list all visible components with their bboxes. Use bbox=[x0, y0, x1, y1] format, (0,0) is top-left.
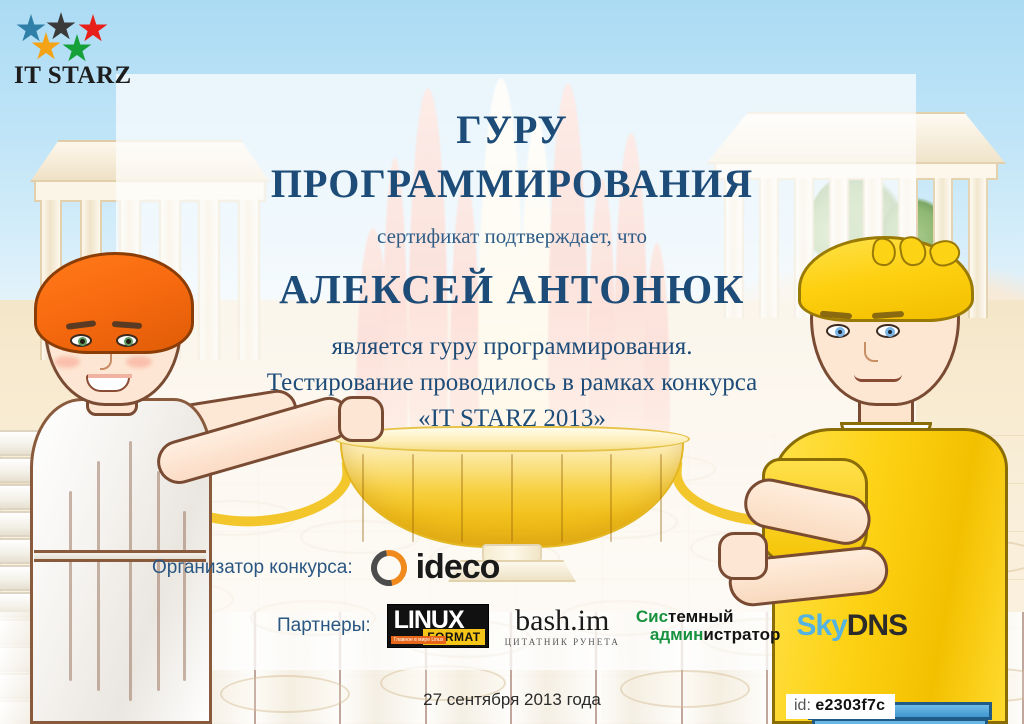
partners-label: Партнеры: bbox=[277, 615, 371, 637]
partner-logo-skydns: SkyDNS bbox=[796, 609, 907, 643]
sysadmin-row2-black: истратор bbox=[703, 625, 780, 644]
certificate-body-line2: Тестирование проводилось в рамках конкур… bbox=[0, 369, 1024, 397]
certificate-title-line2: ПРОГРАММИРОВАНИЯ bbox=[0, 160, 1024, 207]
certificate-id-value: e2303f7c bbox=[815, 697, 885, 714]
partner-logo-sistemnyy-administrator: Системный администратор bbox=[636, 608, 781, 644]
partner-logo-bash-im: bash.im ЦИТАТНИК РУНЕТА bbox=[505, 606, 620, 647]
certificate-content: ГУРУ ПРОГРАММИРОВАНИЯ сертификат подтвер… bbox=[0, 0, 1024, 724]
certificate-body-line3: «IT STARZ 2013» bbox=[0, 405, 1024, 433]
sysadmin-row2-green: админ bbox=[650, 625, 704, 644]
organizer-row: Организатор конкурса: ideco bbox=[152, 548, 499, 587]
recipient-name: АЛЕКСЕЙ АНТОНЮК bbox=[0, 265, 1024, 313]
sysadmin-row1: Системный bbox=[636, 607, 734, 626]
sysadmin-row1-black: темный bbox=[668, 607, 733, 626]
ideco-wordmark: ideco bbox=[416, 548, 500, 587]
certificate-body-line1: является гуру программирования. bbox=[0, 333, 1024, 361]
partners-row: Партнеры: LINUX FORMAT Главное в мире Li… bbox=[277, 604, 907, 648]
certificate-title-line1: ГУРУ bbox=[0, 106, 1024, 153]
ideco-logo: ideco bbox=[371, 548, 500, 587]
bash-im-subtitle: ЦИТАТНИК РУНЕТА bbox=[505, 637, 620, 647]
certificate-subtitle: сертификат подтверждает, что bbox=[0, 224, 1024, 249]
skydns-part1: Sky bbox=[796, 609, 846, 642]
sysadmin-row2: администратор bbox=[636, 625, 781, 644]
linux-format-tagline: Главное в мире Linux bbox=[391, 636, 447, 644]
ideco-ring-icon bbox=[371, 550, 407, 586]
certificate-id-box: id: e2303f7c bbox=[786, 694, 895, 719]
certificate-canvas: IT STARZ ГУРУ ПРОГРАММИРОВАНИЯ сертифика… bbox=[0, 0, 1024, 724]
bash-im-main: bash.im bbox=[515, 606, 609, 636]
certificate-id-label: id: bbox=[794, 697, 811, 714]
skydns-part2: DNS bbox=[847, 609, 907, 642]
sysadmin-row1-green: Сис bbox=[636, 607, 668, 626]
organizer-label: Организатор конкурса: bbox=[152, 557, 353, 579]
partner-logo-linux-format: LINUX FORMAT Главное в мире Linux bbox=[387, 604, 489, 648]
